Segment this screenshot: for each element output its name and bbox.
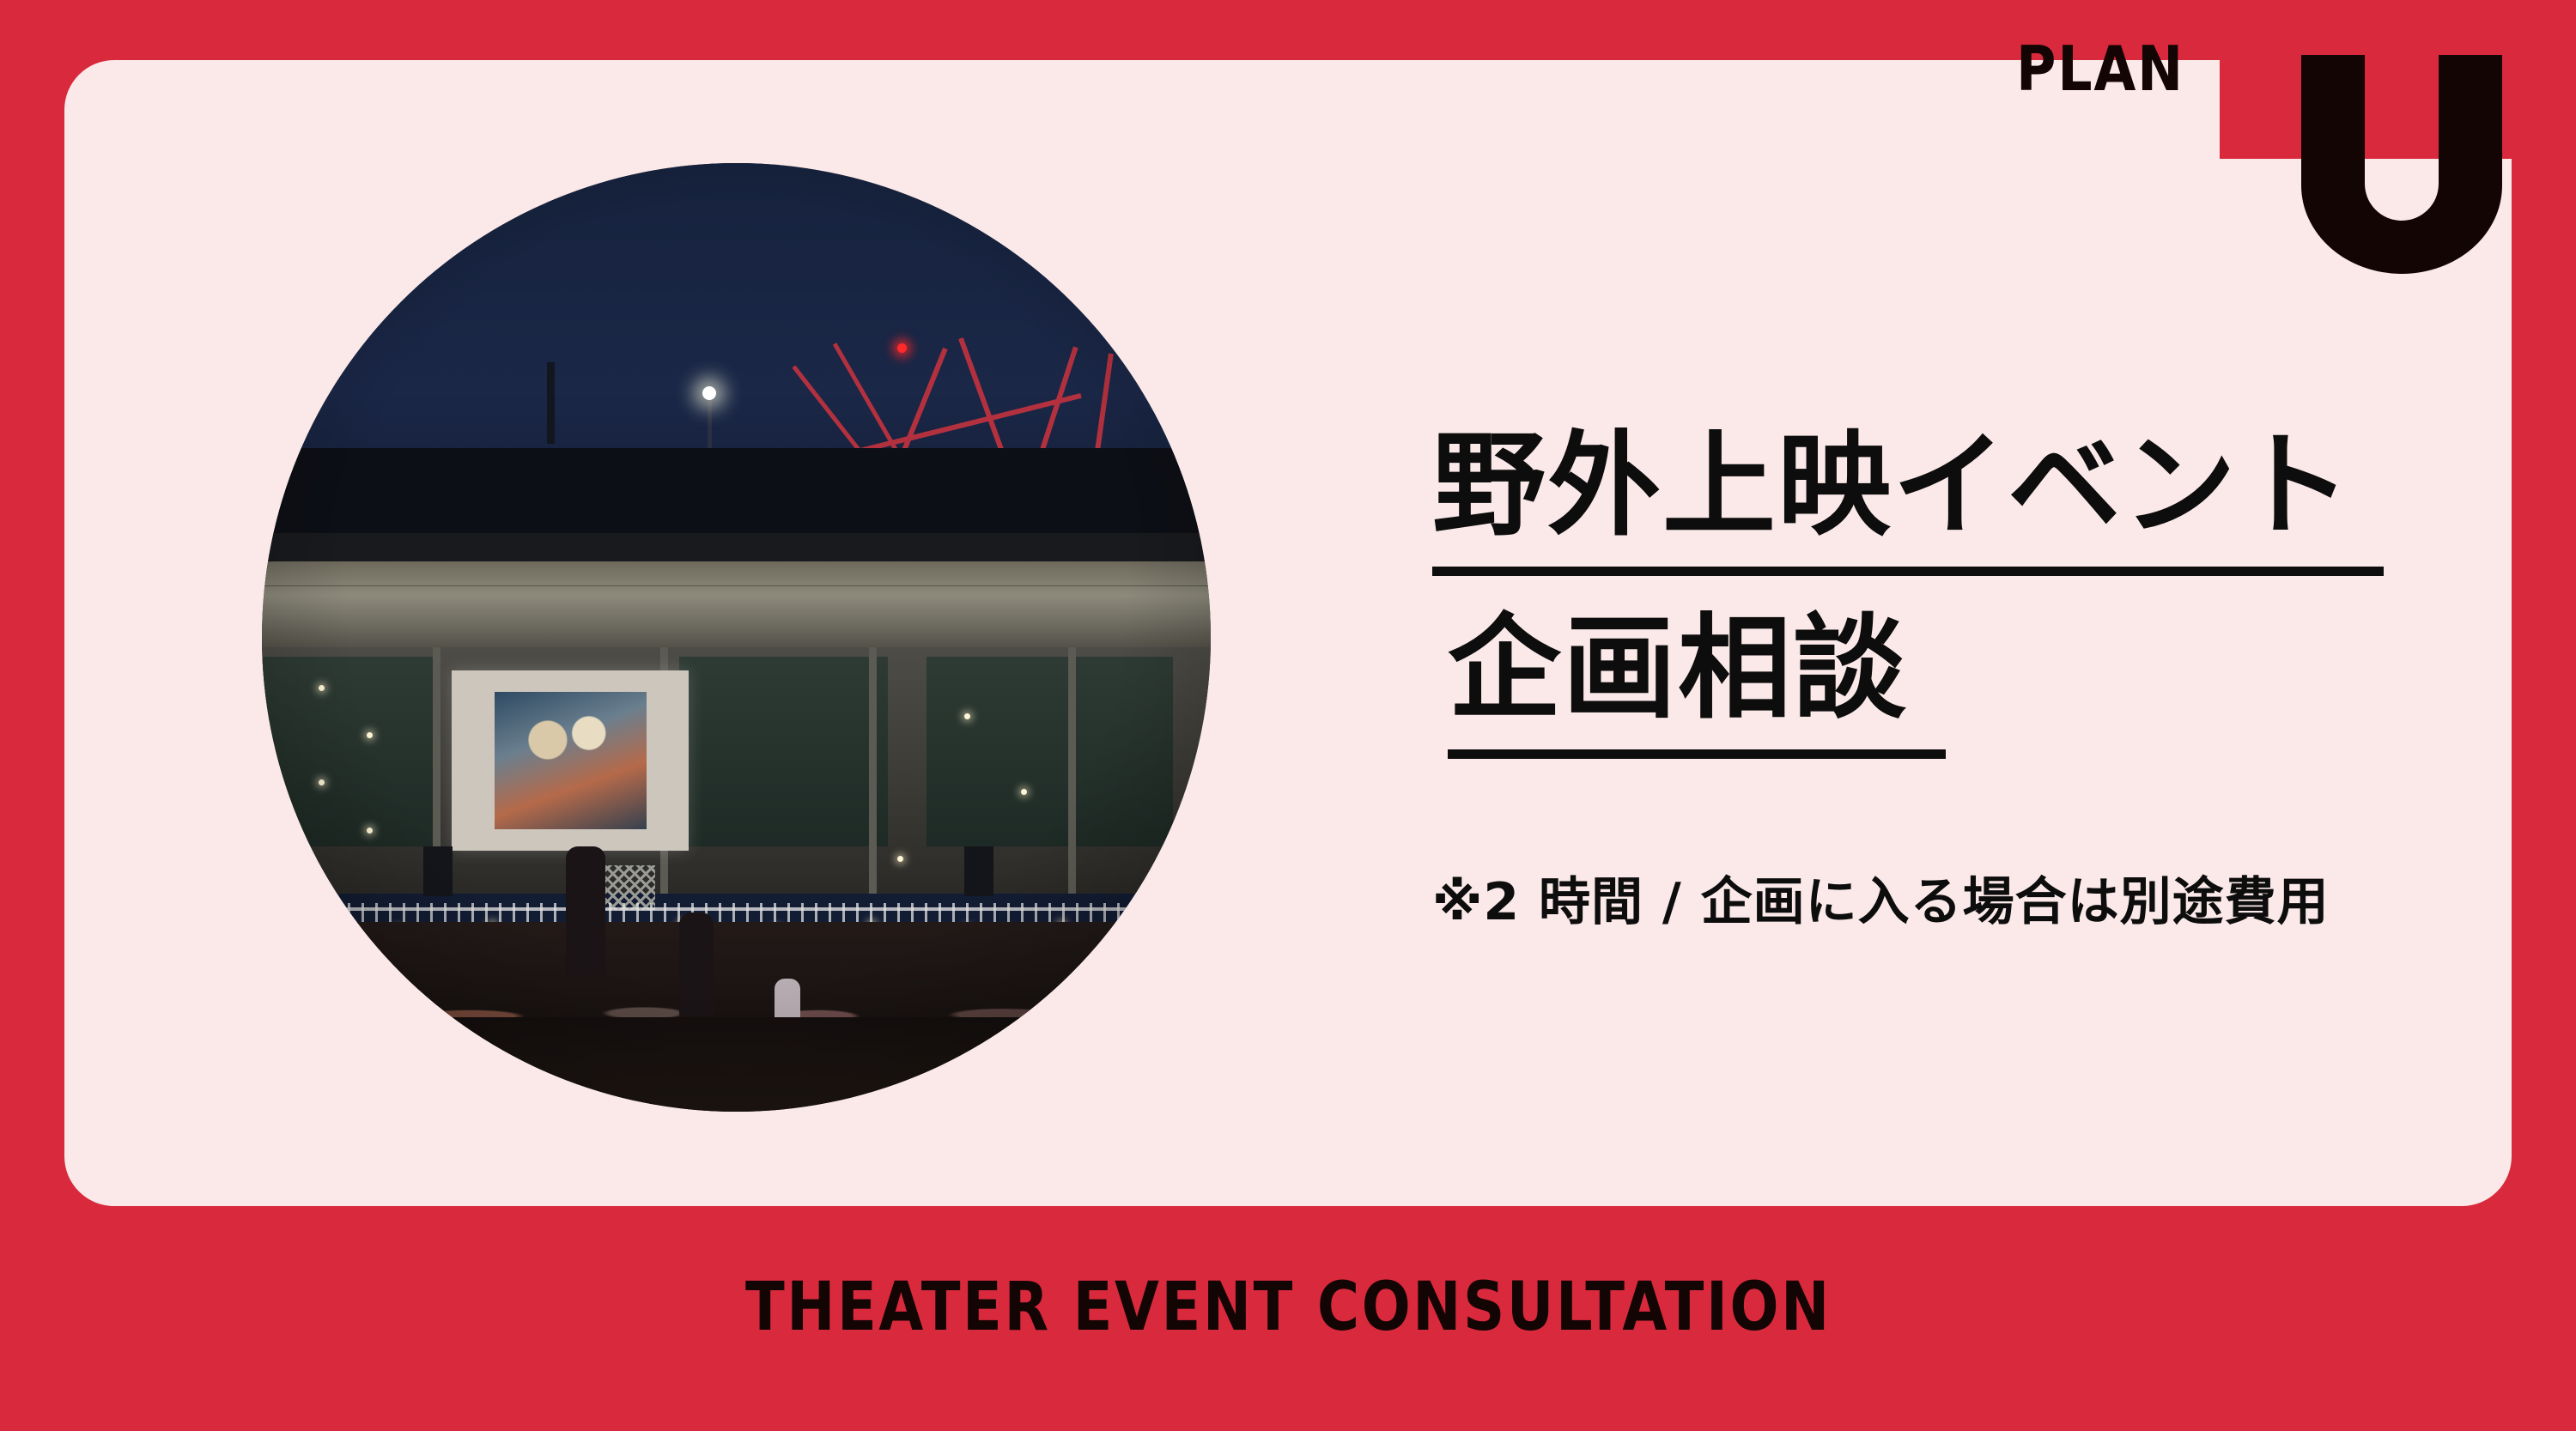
bottom-caption-text: THEATER EVENT CONSULTATION — [745, 1269, 1832, 1346]
subtitle-note: ※2 時間 / 企画に入る場合は別途費用 — [1432, 860, 2480, 935]
poster-root: 野外上映イベント 企画相談 ※2 時間 / 企画に入る場合は別途費用 PLAN … — [0, 0, 2576, 1431]
headline-block: 野外上映イベント 企画相談 ※2 時間 / 企画に入る場合は別途費用 — [1432, 429, 2480, 935]
event-photo — [262, 163, 1211, 1112]
letter-u-mark — [2294, 55, 2509, 274]
heading-line-2: 企画相談 — [1448, 612, 2480, 725]
logo-wordmark-plan: PLAN — [2016, 33, 2184, 105]
heading-rule-1 — [1432, 567, 2384, 576]
brand-logo: PLAN — [2009, 17, 2524, 292]
heading-line-2-wrap: 企画相談 — [1448, 612, 2480, 725]
heading-line-1: 野外上映イベント — [1432, 429, 2480, 543]
heading-rule-2 — [1448, 749, 1946, 759]
photo-vignette — [262, 163, 1211, 1112]
bottom-caption: THEATER EVENT CONSULTATION — [0, 1269, 2576, 1346]
